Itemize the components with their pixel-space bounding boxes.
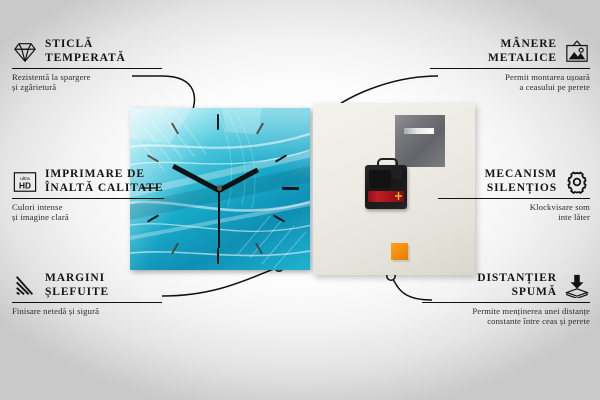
feature-title-line1: DISTANȚIER	[477, 272, 557, 286]
feature-title-line1: MARGINI	[45, 272, 109, 286]
feature-sub-line1: Permite menținerea unei distanțe	[422, 306, 590, 316]
feature-spacer: DISTANȚIER SPUMĂ Permite menținerea unei…	[422, 272, 590, 327]
feature-print: ultra HD IMPRIMARE DE ÎNALTĂ CALITATE Cu…	[12, 168, 164, 223]
metal-hanger-plate	[395, 115, 445, 167]
diamond-icon	[12, 40, 38, 64]
feature-rule	[12, 302, 162, 303]
feature-sub-line1: Klockvisare som	[438, 202, 590, 212]
feature-title-line1: MECANISM	[485, 168, 557, 182]
polished-edges-icon	[12, 274, 38, 298]
svg-text:HD: HD	[19, 180, 31, 190]
feature-sub-line1: Rezistentă la spargere	[12, 72, 162, 82]
feature-title-line1: IMPRIMARE DE	[45, 168, 163, 182]
hands-pivot	[217, 186, 222, 191]
feature-title-line1: MÂNERE	[488, 38, 557, 52]
feature-sub-line2: a ceasului pe perete	[430, 82, 590, 92]
feature-sub-line1: Finisare netedă și sigură	[12, 306, 162, 316]
feature-sub-line2: și imagine clară	[12, 212, 164, 222]
feature-sub-line2: constante între ceas și perete	[422, 316, 590, 326]
feature-hooks: MÂNERE METALICE Permit montarea ușoară a…	[430, 38, 590, 93]
hour-hand	[218, 168, 259, 193]
feature-title-line1: STICLĂ	[45, 38, 126, 52]
battery-plus-terminal	[395, 192, 402, 200]
feature-rule	[430, 68, 590, 69]
second-hand	[218, 190, 220, 248]
minute-hand	[172, 164, 220, 193]
feature-sub-line1: Permit montarea ușoară	[430, 72, 590, 82]
feature-rule	[422, 302, 590, 303]
feature-rule	[12, 68, 162, 69]
picture-hanging-icon	[564, 40, 590, 64]
press-down-icon	[564, 274, 590, 298]
hanger-slot	[404, 128, 434, 134]
feature-title-line2: ÎNALTĂ CALITATE	[45, 182, 163, 196]
feature-mechanism: MECANISM SILENȚIOS Klockvisare som inte …	[438, 168, 590, 223]
mechanism-detail	[365, 165, 407, 209]
feature-title-line2: SPUMĂ	[477, 286, 557, 300]
feature-rule	[438, 198, 590, 199]
feature-sub-line2: inte låter	[438, 212, 590, 222]
feature-sub-line2: și zgârietură	[12, 82, 162, 92]
battery	[368, 191, 404, 202]
ultra-hd-icon: ultra HD	[12, 170, 38, 194]
feature-title-line2: ȘLEFUITE	[45, 286, 109, 300]
feature-rule	[12, 198, 164, 199]
gear-icon	[564, 170, 590, 194]
infographic-canvas: STICLĂ TEMPERATĂ Rezistentă la spargere …	[0, 0, 600, 400]
leader-line-edges	[162, 268, 276, 296]
feature-title-line2: TEMPERATĂ	[45, 52, 126, 66]
foam-spacer	[391, 243, 408, 260]
feature-glass: STICLĂ TEMPERATĂ Rezistentă la spargere …	[12, 38, 162, 93]
feature-edges: MARGINI ȘLEFUITE Finisare netedă și sigu…	[12, 272, 162, 316]
feature-title-line2: SILENȚIOS	[485, 182, 557, 196]
feature-title-line2: METALICE	[488, 52, 557, 66]
feature-sub-line1: Culori intense	[12, 202, 164, 212]
clock-mechanism	[365, 165, 407, 209]
